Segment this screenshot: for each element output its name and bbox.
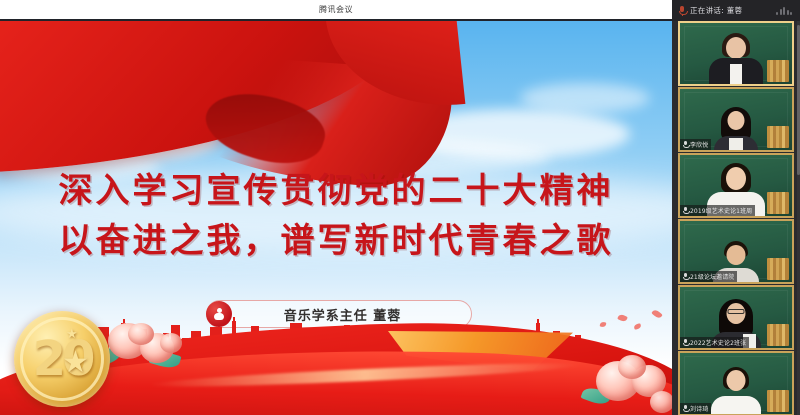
participant-tile[interactable]: 2022艺术史论2班张 (678, 285, 794, 350)
peony-flower (128, 323, 154, 345)
speaking-indicator-bar: 正在讲话: 董蓉 (672, 0, 800, 21)
petal-decoration (633, 323, 641, 330)
microphone-icon (683, 273, 688, 280)
participant-name-bar: 李欣悦 (680, 139, 711, 150)
microphone-icon (683, 141, 688, 148)
participant-body (711, 396, 761, 414)
peony-flower (160, 333, 182, 353)
participant-face (726, 37, 746, 59)
participant-video-sidebar[interactable]: 李欣悦 2019级艺术史论1班周 21级论坛邀请院 (672, 21, 800, 415)
eyeglasses-icon (728, 309, 745, 314)
bookshelf-decoration (767, 192, 789, 214)
participant-shirt (729, 138, 743, 150)
participant-name-bar: 刘诗琦 (680, 403, 711, 414)
bookshelf-decoration (767, 60, 789, 82)
participant-name-bar: 2019级艺术史论1班周 (680, 205, 755, 216)
petal-decoration (651, 308, 663, 319)
shared-screen-slide: 深入学习宣传贯彻党的二十大精神 以奋进之我，谱写新时代青春之歌 音乐学系主任 董… (0, 21, 672, 415)
slide-title-block: 深入学习宣传贯彻党的二十大精神 以奋进之我，谱写新时代青春之歌 (0, 167, 672, 266)
participant-name: 2022艺术史论2班张 (690, 338, 746, 347)
speaking-label: 正在讲话: 董蓉 (690, 5, 742, 16)
peony-flower (618, 355, 646, 379)
bookshelf-decoration (767, 390, 789, 412)
participant-face (727, 370, 746, 391)
audio-wave-icon (776, 7, 792, 15)
participant-tile[interactable] (678, 21, 794, 86)
microphone-icon (683, 405, 688, 412)
decorative-bottom-band: 20 ★ ★ (0, 303, 672, 415)
participant-name: 李欣悦 (690, 140, 708, 149)
participant-tile[interactable]: 刘诗琦 (678, 351, 794, 415)
participant-name: 21级论坛邀请院 (690, 272, 734, 281)
participant-tile[interactable]: 李欣悦 (678, 87, 794, 152)
participant-name-bar: 2022艺术史论2班张 (680, 337, 749, 348)
bookshelf-decoration (767, 258, 789, 280)
participant-name: 刘诗琦 (690, 404, 708, 413)
bookshelf-decoration (767, 324, 789, 346)
star-icon: ★ (62, 345, 89, 380)
participant-face (727, 245, 746, 265)
participant-face (726, 167, 746, 190)
anniversary-emblem: 20 ★ ★ (14, 311, 110, 407)
microphone-icon (678, 6, 686, 16)
meeting-window: 腾讯会议 正在讲话: 董蓉 深入学习宣传贯彻党的二十大精神 以奋进之我，谱写新时… (0, 0, 800, 415)
window-title-bar: 腾讯会议 (0, 0, 672, 19)
participant-face (728, 111, 745, 130)
slide-title-line-1: 深入学习宣传贯彻党的二十大精神 (0, 167, 672, 217)
participant-tile[interactable]: 2019级艺术史论1班周 (678, 153, 794, 218)
cloud-decoration (520, 83, 650, 113)
bookshelf-decoration (767, 126, 789, 148)
app-title: 腾讯会议 (319, 4, 353, 15)
participant-shirt (730, 64, 742, 84)
slide-title-line-2: 以奋进之我，谱写新时代青春之歌 (0, 217, 672, 267)
microphone-icon (683, 207, 688, 214)
microphone-icon (683, 339, 688, 346)
peony-flower (650, 391, 672, 413)
participant-tile[interactable]: 21级论坛邀请院 (678, 219, 794, 284)
star-icon: ★ (66, 327, 78, 342)
participant-name: 2019级艺术史论1班周 (690, 206, 752, 215)
participant-name-bar: 21级论坛邀请院 (680, 271, 737, 282)
